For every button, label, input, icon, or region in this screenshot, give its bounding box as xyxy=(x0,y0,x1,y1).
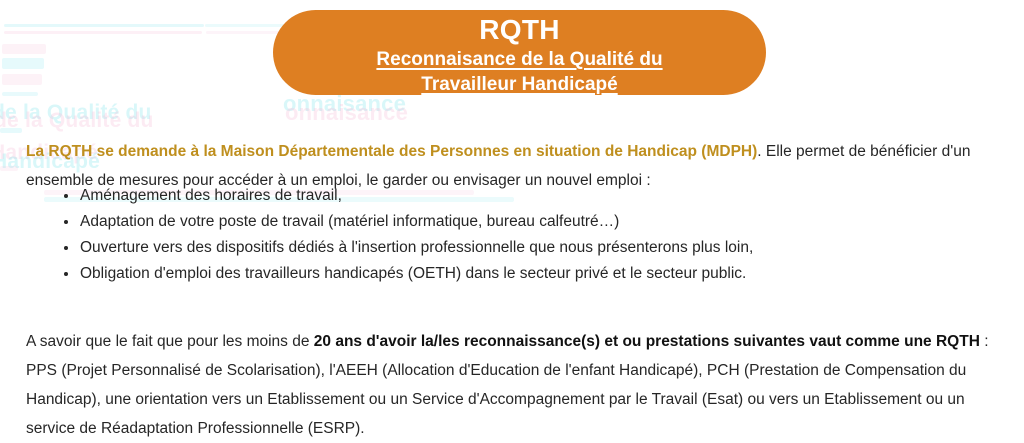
ghost-band-left-edge xyxy=(0,128,22,133)
measures-list: Aménagement des horaires de travail, Ada… xyxy=(42,183,1024,287)
page-title: RQTH xyxy=(479,13,560,46)
page-subtitle: Reconnaisance de la Qualité du Travaille… xyxy=(376,47,662,97)
intro-highlight: La RQTH se demande à la Maison Départeme… xyxy=(26,143,757,160)
list-item: Obligation d'emploi des travailleurs han… xyxy=(64,261,1024,287)
list-item-label: Adaptation de votre poste de travail (ma… xyxy=(80,213,619,230)
closing-bold: 20 ans d'avoir la/les reconnaissance(s) … xyxy=(314,333,980,350)
closing-paragraph: A savoir que le fait que pour les moins … xyxy=(26,327,1004,443)
ghost-band-top-2 xyxy=(4,31,202,34)
page-subtitle-line-1: Reconnaisance de la Qualité du xyxy=(376,47,662,72)
list-item: Adaptation de votre poste de travail (ma… xyxy=(64,209,1024,235)
ghost-text-1: de la Qualité du xyxy=(0,101,152,125)
ghost-band-mid-3 xyxy=(2,74,42,85)
ghost-band-left-edge-2 xyxy=(0,166,18,171)
ghost-band-mid xyxy=(2,44,46,54)
header-banner: RQTH Reconnaisance de la Qualité du Trav… xyxy=(273,10,766,95)
ghost-band-mid-2 xyxy=(2,58,44,69)
list-item-label: Ouverture vers des dispositifs dédiés à … xyxy=(80,239,753,256)
ghost-band-mid-4 xyxy=(2,92,38,96)
page-subtitle-line-2: Travailleur Handicapé xyxy=(376,72,662,97)
ghost-band-top xyxy=(4,24,204,27)
closing-part-1: A savoir que le fait que pour les moins … xyxy=(26,333,314,350)
ghost-text-6: onnaisance xyxy=(285,100,408,126)
list-item: Aménagement des horaires de travail, xyxy=(64,183,1024,209)
list-item-label: Obligation d'emploi des travailleurs han… xyxy=(80,265,746,282)
list-item-label: Aménagement des horaires de travail, xyxy=(80,187,342,204)
list-item: Ouverture vers des dispositifs dédiés à … xyxy=(64,235,1024,261)
ghost-text-2: de la Qualité du xyxy=(0,109,154,133)
